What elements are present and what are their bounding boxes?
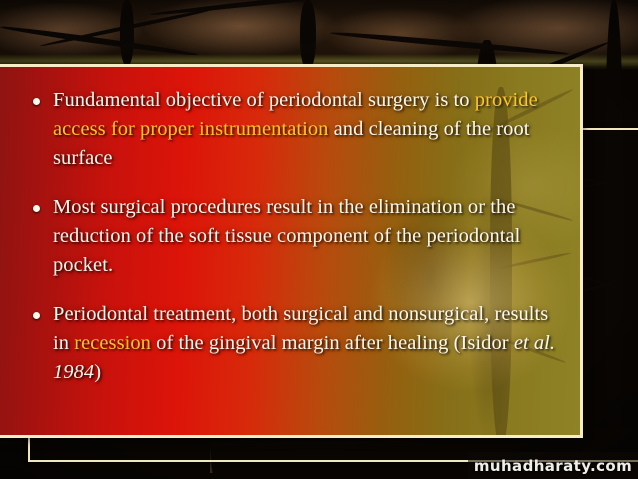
text-run-normal: Fundamental objective of periodontal sur… (53, 89, 475, 111)
bullet-dot-icon (33, 98, 40, 105)
bullet-dot-icon (33, 205, 40, 212)
bullet-1-text: Fundamental objective of periodontal sur… (53, 86, 568, 173)
bullet-3-text: Periodontal treatment, both surgical and… (53, 300, 568, 387)
bullet-list: Fundamental objective of periodontal sur… (0, 64, 586, 438)
text-run-normal: of the gingival margin after healing (Is… (151, 332, 514, 354)
bullet-2-text: Most surgical procedures result in the e… (53, 193, 568, 280)
list-item: Most surgical procedures result in the e… (26, 193, 568, 280)
text-run-highlight: recession (74, 332, 151, 354)
text-run-normal: ) (94, 361, 101, 383)
text-run-normal: Most surgical procedures result in the e… (53, 196, 520, 276)
list-item: Periodontal treatment, both surgical and… (26, 300, 568, 387)
bullet-dot-icon (33, 312, 40, 319)
watermark: muhadharaty.com (468, 452, 638, 479)
list-item: Fundamental objective of periodontal sur… (26, 86, 568, 173)
watermark-label: muhadharaty.com (474, 457, 632, 475)
